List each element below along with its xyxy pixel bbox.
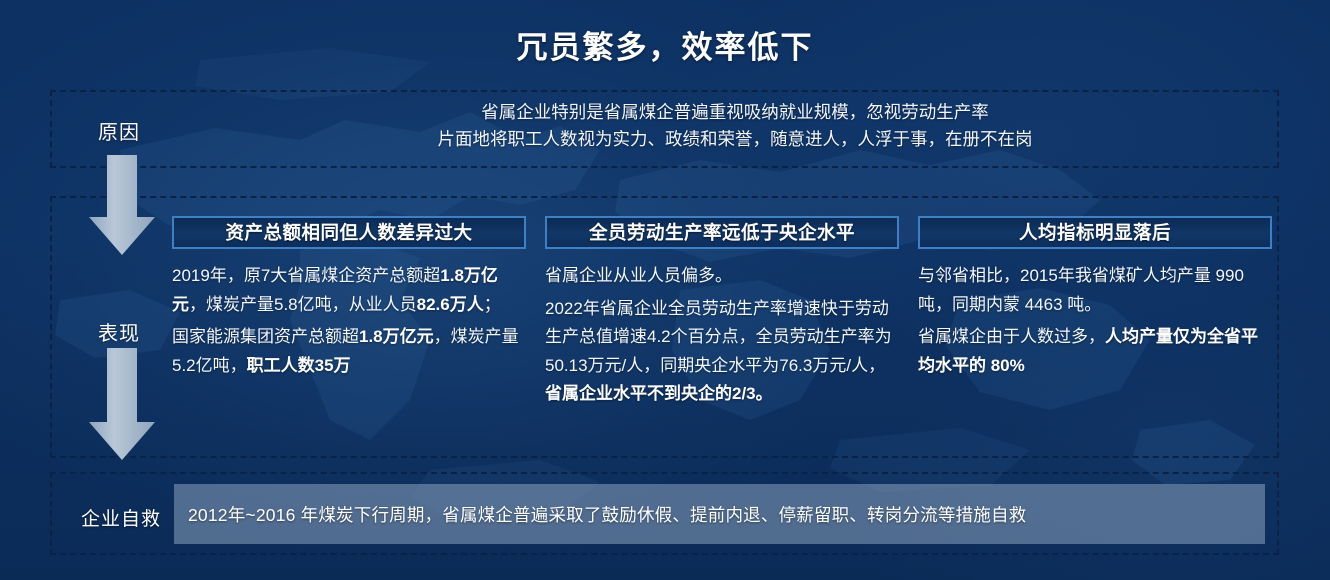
- body-text: 2022年省属企业全员劳动生产率增速快于劳动生产总值增速4.2个百分点，全员劳动…: [545, 299, 892, 375]
- column-paragraph: 国家能源集团资产总额超1.8万亿元，煤炭产量5.2亿吨，职工人数35万: [172, 323, 526, 380]
- cause-line: 省属企业特别是省属煤企普遍重视吸纳就业规模，忽视劳动生产率: [210, 99, 1260, 126]
- column-body: 省属企业从业人员偏多。2022年省属企业全员劳动生产率增速快于劳动生产总值增速4…: [545, 262, 899, 409]
- column-paragraph: 2022年省属企业全员劳动生产率增速快于劳动生产总值增速4.2个百分点，全员劳动…: [545, 295, 899, 409]
- page-title: 冗员繁多，效率低下: [0, 22, 1330, 67]
- body-text: 省属煤企由于人数过多，: [918, 327, 1105, 346]
- manifestation-column: 资产总额相同但人数差异过大2019年，原7大省属煤企资产总额超1.8万亿元，煤炭…: [172, 216, 526, 448]
- column-paragraph: 省属煤企由于人数过多，人均产量仅为全省平均水平的 80%: [918, 323, 1272, 380]
- manifestation-column: 人均指标明显落后与邻省相比，2015年我省煤矿人均产量 990吨，同期内蒙 44…: [918, 216, 1272, 448]
- body-text: ；: [484, 295, 501, 314]
- emphasis-text: 职工人数35万: [247, 356, 351, 375]
- body-text: ，煤炭产量5.8亿吨，从业人员: [189, 295, 417, 314]
- down-arrow-icon: [85, 155, 159, 257]
- column-body: 与邻省相比，2015年我省煤矿人均产量 990吨，同期内蒙 4463 吨。省属煤…: [918, 262, 1272, 380]
- cause-line: 片面地将职工人数视为实力、政绩和荣誉，随意进人，人浮于事，在册不在岗: [210, 126, 1260, 153]
- manifestation-column: 全员劳动生产率远低于央企水平省属企业从业人员偏多。2022年省属企业全员劳动生产…: [545, 216, 899, 448]
- rescue-text: 2012年~2016 年煤炭下行周期，省属煤企普遍采取了鼓励休假、提前内退、停薪…: [174, 502, 1026, 527]
- body-text: 省属企业从业人员偏多。: [545, 266, 732, 285]
- cause-text: 省属企业特别是省属煤企普遍重视吸纳就业规模，忽视劳动生产率片面地将职工人数视为实…: [210, 99, 1260, 153]
- body-text: 与邻省相比，2015年我省煤矿人均产量 990吨，同期内蒙 4463 吨。: [918, 266, 1244, 314]
- emphasis-text: 1.8万亿元: [359, 327, 434, 346]
- column-body: 2019年，原7大省属煤企资产总额超1.8万亿元，煤炭产量5.8亿吨，从业人员8…: [172, 262, 526, 380]
- down-arrow-icon: [85, 348, 159, 462]
- column-paragraph: 省属企业从业人员偏多。: [545, 262, 899, 291]
- column-heading: 人均指标明显落后: [918, 216, 1272, 249]
- rescue-label: 企业自救: [62, 504, 180, 531]
- rescue-bar: 2012年~2016 年煤炭下行周期，省属煤企普遍采取了鼓励休假、提前内退、停薪…: [174, 484, 1265, 544]
- column-paragraph: 与邻省相比，2015年我省煤矿人均产量 990吨，同期内蒙 4463 吨。: [918, 262, 1272, 319]
- cause-label: 原因: [64, 116, 174, 145]
- manifestation-columns: 资产总额相同但人数差异过大2019年，原7大省属煤企资产总额超1.8万亿元，煤炭…: [172, 216, 1272, 448]
- body-text: 国家能源集团资产总额超: [172, 327, 359, 346]
- emphasis-text: 82.6万人: [417, 295, 484, 314]
- column-heading: 全员劳动生产率远低于央企水平: [545, 216, 899, 249]
- emphasis-text: 省属企业水平不到央企的2/3。: [545, 384, 773, 403]
- column-heading: 资产总额相同但人数差异过大: [172, 216, 526, 249]
- body-text: 2019年，原7大省属煤企资产总额超: [172, 266, 440, 285]
- manifestation-label: 表现: [64, 317, 174, 346]
- column-paragraph: 2019年，原7大省属煤企资产总额超1.8万亿元，煤炭产量5.8亿吨，从业人员8…: [172, 262, 526, 319]
